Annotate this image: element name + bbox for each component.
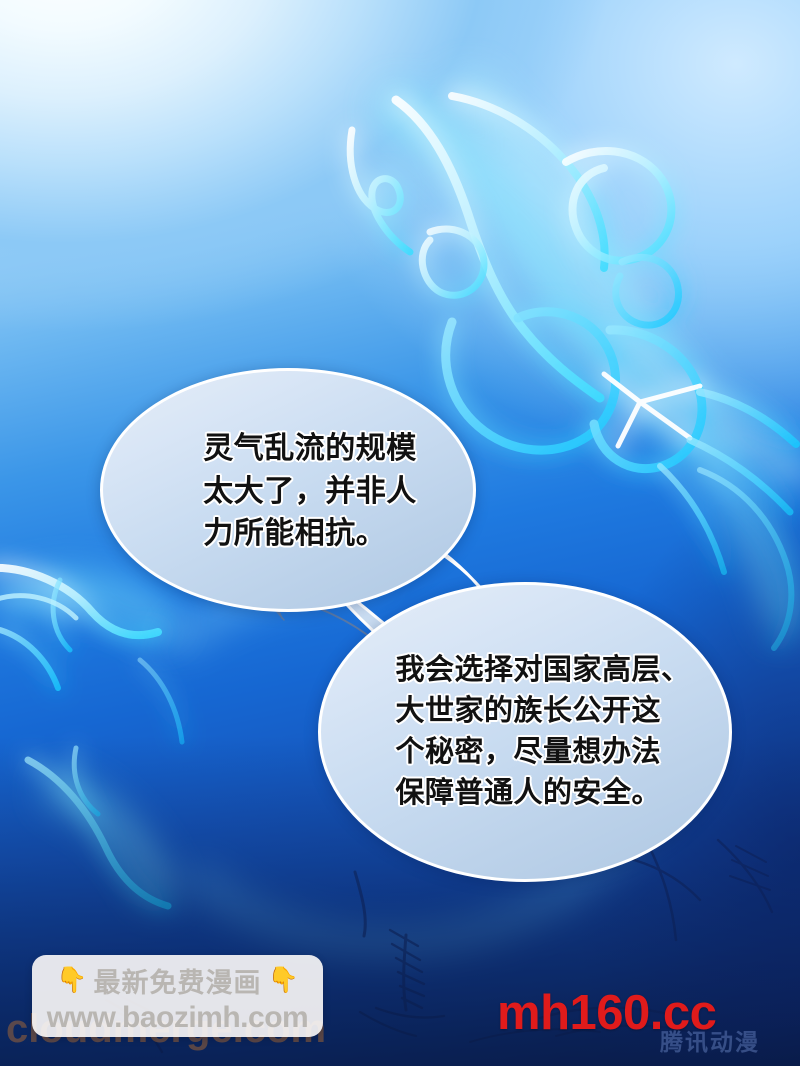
- tencent-comics-watermark: 腾讯动漫: [660, 1023, 760, 1057]
- banner-title-row: 👇 最新免费漫画 👇: [32, 955, 323, 1002]
- speech-bubble-2: 我会选择对国家高层、 大世家的族长公开这 个秘密，尽量想办法 保障普通人的安全。: [318, 582, 732, 882]
- speech-bubble-1: 灵气乱流的规模 太大了，并非人 力所能相抗。: [100, 368, 476, 612]
- baozimh-promo-banner[interactable]: 👇 最新免费漫画 👇 www.baozimh.com: [32, 955, 323, 1037]
- pointing-down-hand-icon-right: 👇: [268, 968, 299, 993]
- speech-bubble-1-text: 灵气乱流的规模 太大了，并非人 力所能相抗。: [159, 424, 417, 556]
- speech-bubble-2-text: 我会选择对国家高层、 大世家的族长公开这 个秘密，尽量想办法 保障普通人的安全。: [359, 650, 690, 815]
- banner-title: 最新免费漫画: [94, 961, 262, 1000]
- banner-url[interactable]: www.baozimh.com: [32, 1002, 323, 1034]
- pointing-down-hand-icon-left: 👇: [56, 968, 87, 993]
- comic-panel: 灵气乱流的规模 太大了，并非人 力所能相抗。 我会选择对国家高层、 大世家的族长…: [0, 0, 800, 1066]
